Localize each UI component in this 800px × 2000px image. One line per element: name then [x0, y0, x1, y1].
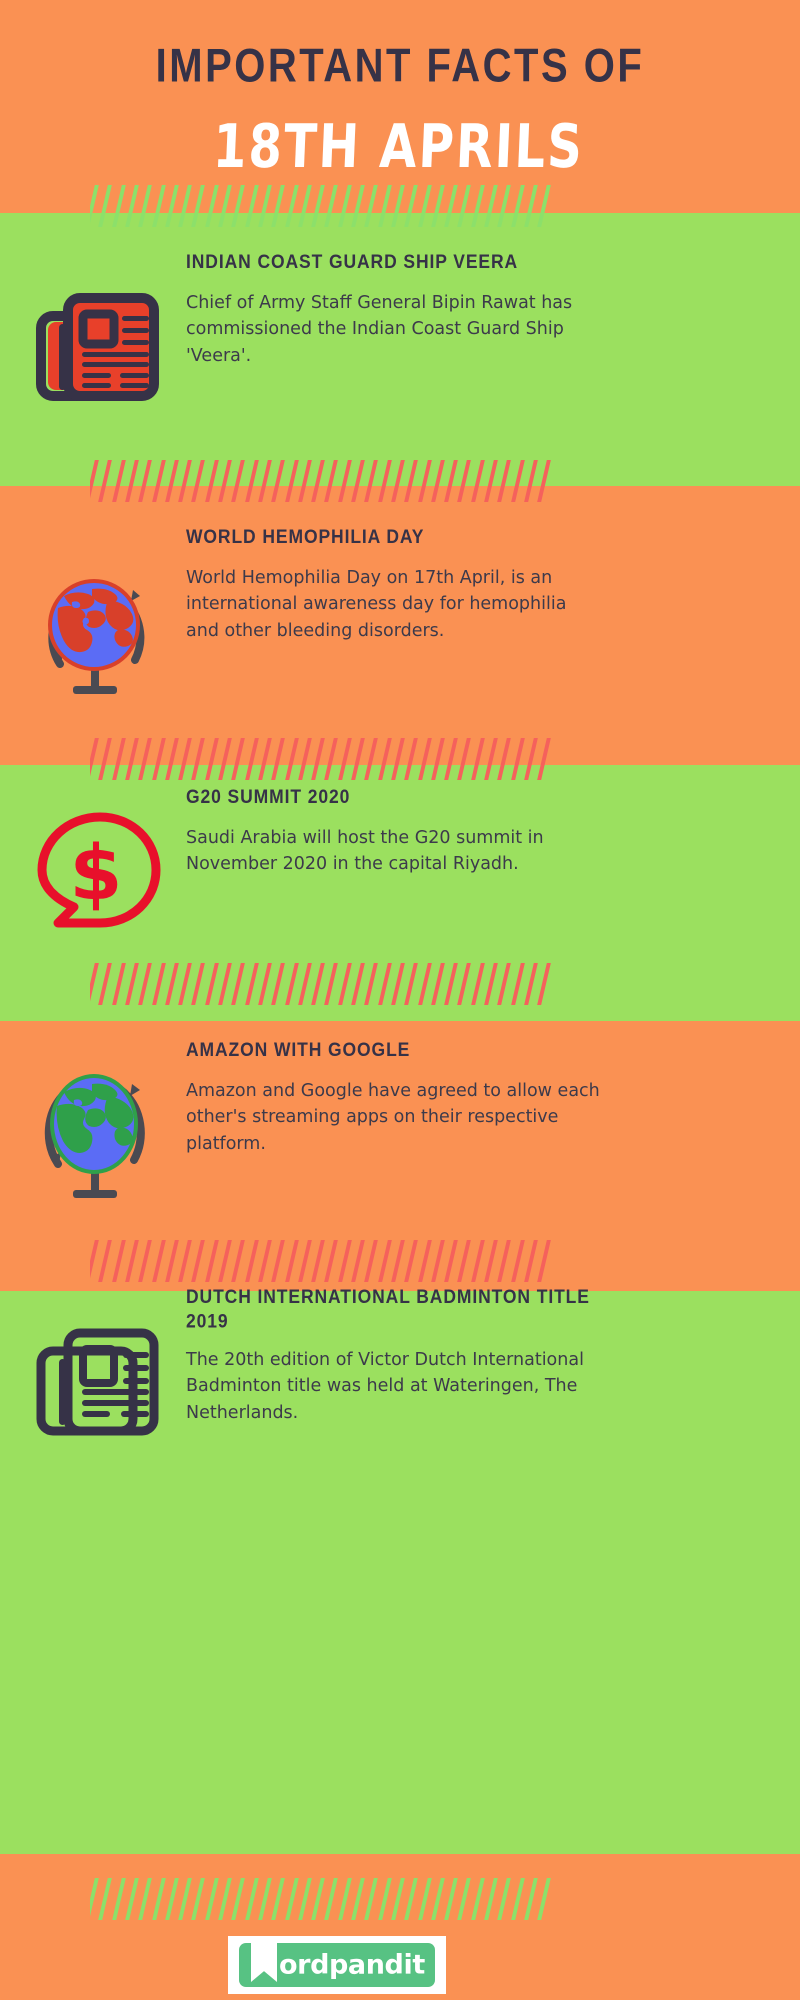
- fact-body: World Hemophilia Day on 17th April, is a…: [186, 565, 586, 645]
- fact-icon-cell-3: $: [28, 809, 168, 939]
- fact-title: G20 Summit 2020: [186, 785, 776, 810]
- fact-row-2: World Hemophilia Day World Hemophilia Da…: [0, 525, 800, 725]
- fact-text-cell-3: G20 Summit 2020 Saudi Arabia will host t…: [186, 785, 776, 878]
- fact-icon-cell-4: [28, 1064, 168, 1204]
- header: Important Facts of 18th Aprils: [0, 0, 800, 270]
- newspaper-outline-icon: [36, 1325, 160, 1437]
- globe-green-blue-icon: [34, 1064, 162, 1204]
- fact-title: Indian Coast Guard Ship Veera: [186, 250, 776, 275]
- fact-body: Saudi Arabia will host the G20 summit in…: [186, 825, 586, 878]
- page-title-line2: 18th Aprils: [0, 112, 800, 182]
- fact-text-cell-2: World Hemophilia Day World Hemophilia Da…: [186, 525, 776, 645]
- fact-text-cell-5: Dutch International Badminton Title 2019…: [186, 1285, 776, 1427]
- fact-icon-cell-2: [28, 569, 168, 699]
- bookmark-w-icon: [251, 1940, 277, 1982]
- newspaper-filled-icon: [36, 290, 160, 402]
- fact-text-cell-1: Indian Coast Guard Ship Veera Chief of A…: [186, 250, 776, 370]
- fact-icon-cell-1: [28, 286, 168, 406]
- fact-icon-cell-5: [28, 1319, 168, 1443]
- fact-text-cell-4: Amazon with Google Amazon and Google hav…: [186, 1038, 776, 1158]
- fact-title: Amazon with Google: [186, 1038, 776, 1063]
- fact-title: Dutch International Badminton Title 2019: [186, 1285, 616, 1334]
- globe-red-blue-icon: [34, 568, 162, 700]
- svg-text:$: $: [70, 828, 123, 917]
- logo-box: ordpandit: [239, 1943, 435, 1987]
- fact-row-3: $ G20 Summit 2020 Saudi Arabia will host…: [0, 785, 800, 965]
- fact-body: The 20th edition of Victor Dutch Interna…: [186, 1347, 636, 1427]
- fact-title: World Hemophilia Day: [186, 525, 776, 550]
- fact-row-5: Dutch International Badminton Title 2019…: [0, 1285, 800, 1485]
- fact-body: Chief of Army Staff General Bipin Rawat …: [186, 290, 576, 370]
- page-title-line1: Important Facts of: [0, 40, 800, 93]
- band-fact-5-body: [0, 1554, 800, 1854]
- dollar-speech-bubble-icon: $: [30, 811, 166, 937]
- logo-text: ordpandit: [279, 1950, 425, 1981]
- fact-body: Amazon and Google have agreed to allow e…: [186, 1078, 606, 1158]
- fact-row-1: Indian Coast Guard Ship Veera Chief of A…: [0, 250, 800, 430]
- infographic-page: Important Facts of 18th Aprils: [0, 0, 800, 2000]
- footer-logo[interactable]: ordpandit: [228, 1936, 446, 1994]
- fact-row-4: Amazon with Google Amazon and Google hav…: [0, 1038, 800, 1238]
